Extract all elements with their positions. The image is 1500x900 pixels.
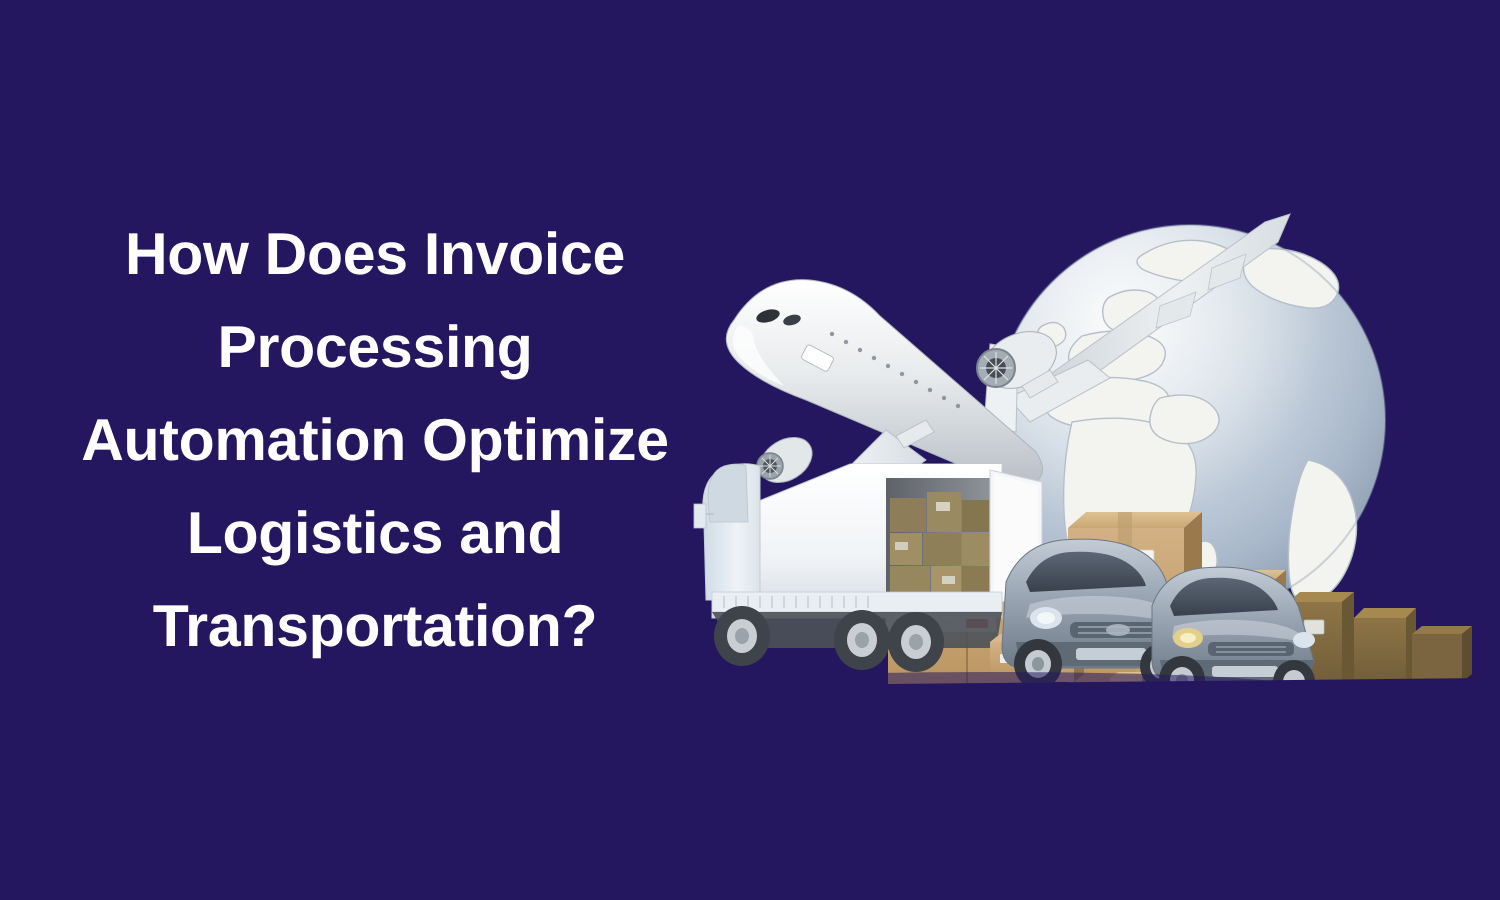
hero-banner: How Does Invoice Processing Automation O… [0,0,1500,900]
box-truck-icon [694,464,1042,672]
truck-cargo-boxes [890,492,989,600]
logistics-illustration [690,130,1490,710]
page-title: How Does Invoice Processing Automation O… [40,208,710,673]
